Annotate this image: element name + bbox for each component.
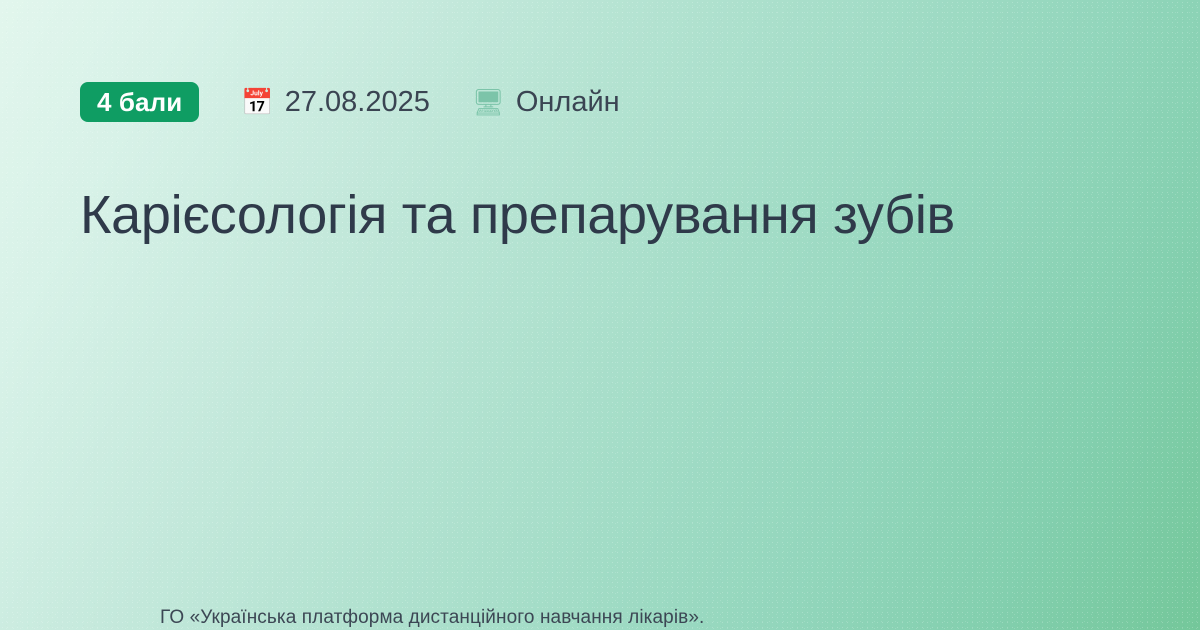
meta-row: 4 бали 📅 27.08.2025 🖥 Онлайн — [80, 82, 1120, 122]
course-announcement-card: 4 бали 📅 27.08.2025 🖥 Онлайн Карієсологі… — [0, 0, 1200, 630]
credits-badge: 4 бали — [80, 82, 199, 122]
meta-item-format: 🖥 Онлайн — [472, 88, 620, 117]
card-content: 4 бали 📅 27.08.2025 🖥 Онлайн Карієсологі… — [80, 82, 1120, 630]
meta-item-date: 📅 27.08.2025 — [241, 88, 430, 117]
monitor-icon: 🖥 — [472, 89, 505, 115]
calendar-icon: 📅 — [241, 89, 273, 115]
event-date-label: 27.08.2025 — [285, 88, 430, 117]
event-format-label: Онлайн — [516, 88, 620, 117]
page-title: Карієсологія та препарування зубів — [80, 122, 1100, 248]
organization-label: ГО «Українська платформа дистанційного н… — [160, 606, 704, 630]
